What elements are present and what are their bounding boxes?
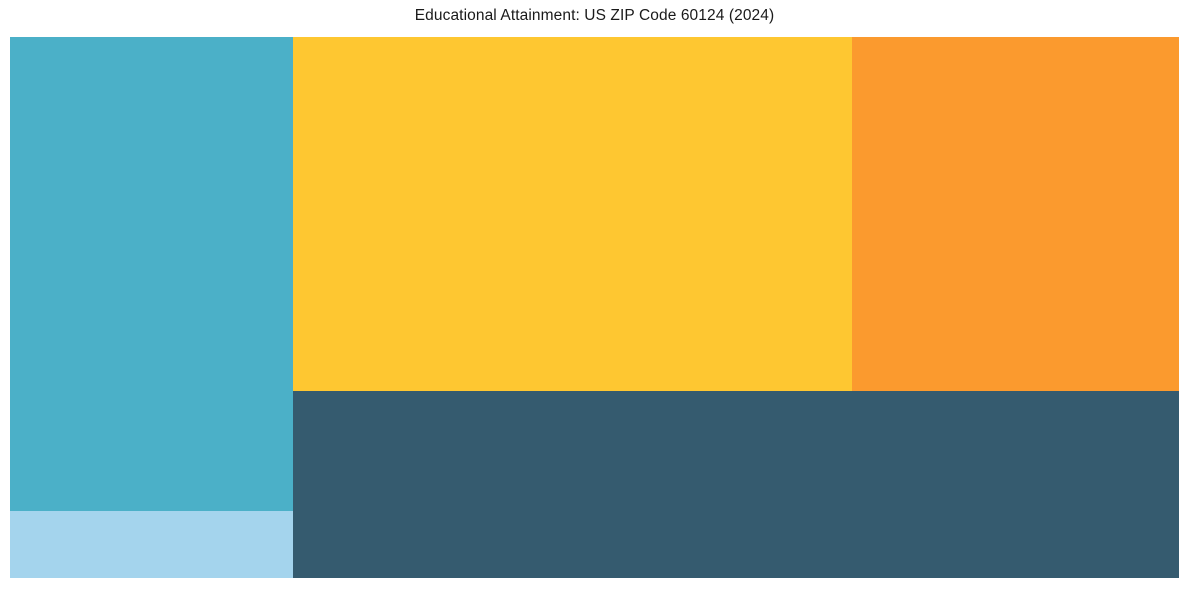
tile-orange[interactable] [852,37,1179,391]
tile-dark-blue[interactable] [293,391,1179,578]
tile-teal[interactable] [10,37,293,511]
chart-title: Educational Attainment: US ZIP Code 6012… [0,6,1189,26]
figure-canvas: Educational Attainment: US ZIP Code 6012… [0,0,1189,590]
tile-yellow[interactable] [293,37,852,391]
tile-light-blue[interactable] [10,511,293,578]
treemap-plot-area [10,37,1179,578]
